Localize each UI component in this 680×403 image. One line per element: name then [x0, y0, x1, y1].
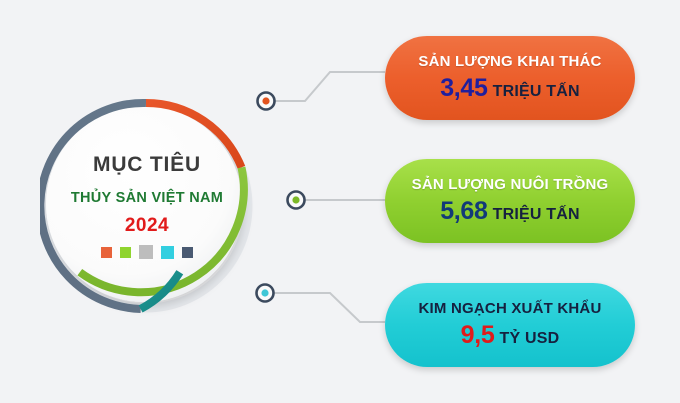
infographic-canvas: MỤC TIÊU THỦY SẢN VIỆT NAM 2024 SẢN LƯ — [0, 0, 680, 403]
stat-title-nuoi-trong: SẢN LƯỢNG NUÔI TRỒNG — [412, 176, 609, 193]
donut-svg — [40, 80, 254, 332]
stat-value-row-nuoi-trong: 5,68 TRIỆU TẤN — [440, 197, 580, 226]
stat-value-khai-thac: 3,45 — [440, 74, 487, 103]
donut-disc — [46, 106, 242, 302]
stat-unit-nuoi-trong: TRIỆU TẤN — [493, 206, 580, 224]
donut-chart: MỤC TIÊU THỦY SẢN VIỆT NAM 2024 — [40, 80, 254, 332]
stat-title-xuat-khau: KIM NGẠCH XUẤT KHẨU — [419, 300, 602, 317]
connector-dot-xuat-khau-core — [261, 289, 268, 296]
connector-dot-khai-thac-core — [262, 97, 269, 104]
stat-value-nuoi-trong: 5,68 — [440, 197, 487, 226]
connector-dot-khai-thac-ring — [258, 93, 275, 110]
connector-line-khai-thac — [268, 72, 385, 101]
stat-value-row-khai-thac: 3,45 TRIỆU TẤN — [440, 74, 580, 103]
connector-dot-nuoi-trong-core — [292, 196, 299, 203]
connector-dot-xuat-khau-ring — [257, 285, 274, 302]
stat-value-row-xuat-khau: 9,5 TỶ USD — [461, 321, 560, 350]
connector-line-xuat-khau — [272, 293, 385, 322]
stat-card-xuat-khau[interactable]: KIM NGẠCH XUẤT KHẨU 9,5 TỶ USD — [385, 283, 635, 367]
stat-value-xuat-khau: 9,5 — [461, 321, 495, 350]
stat-card-khai-thac[interactable]: SẢN LƯỢNG KHAI THÁC 3,45 TRIỆU TẤN — [385, 36, 635, 120]
connector-dot-nuoi-trong-ring — [288, 192, 305, 209]
stat-unit-xuat-khau: TỶ USD — [499, 330, 559, 348]
stat-title-khai-thac: SẢN LƯỢNG KHAI THÁC — [418, 53, 601, 70]
stat-unit-khai-thac: TRIỆU TẤN — [493, 83, 580, 101]
stat-card-nuoi-trong[interactable]: SẢN LƯỢNG NUÔI TRỒNG 5,68 TRIỆU TẤN — [385, 159, 635, 243]
